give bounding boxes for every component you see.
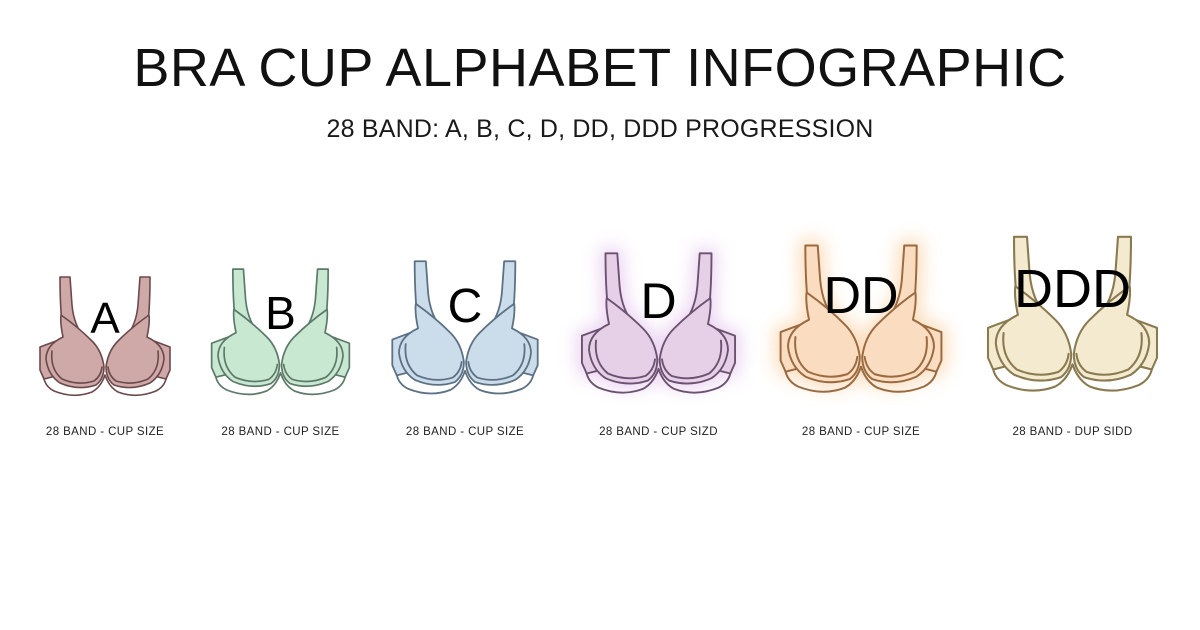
bra-size-item-c: C28 BAND - CUP SIZE bbox=[381, 259, 549, 438]
page-title: BRA CUP ALPHABET INFOGRAPHIC bbox=[0, 40, 1200, 97]
bra-illustration bbox=[30, 275, 180, 410]
bra-caption: 28 BAND - CUP SIZE bbox=[46, 426, 164, 438]
bra-size-row: A28 BAND - CUP SIZEB28 BAND - CUP SIZEC2… bbox=[0, 238, 1200, 438]
bra-caption: 28 BAND - DUP SIDD bbox=[1012, 426, 1132, 438]
bra-cup-right bbox=[106, 315, 164, 388]
bra-illustration bbox=[768, 243, 954, 410]
page-subtitle: 28 BAND: A, B, C, D, DD, DDD PROGRESSION bbox=[0, 97, 1200, 144]
bra-caption: 28 BAND - CUP SIZE bbox=[406, 426, 524, 438]
bra-size-item-a: A28 BAND - CUP SIZE bbox=[30, 275, 180, 438]
bra-illustration bbox=[201, 267, 360, 410]
bra-illustration bbox=[381, 259, 549, 410]
infographic-canvas: BRA CUP ALPHABET INFOGRAPHIC 28 BAND: A,… bbox=[0, 0, 1200, 630]
bra-figure: A bbox=[30, 275, 180, 410]
bra-figure: D bbox=[570, 251, 747, 410]
bra-size-item-d: D28 BAND - CUP SIZD bbox=[570, 251, 747, 438]
bra-size-item-ddd: DDD28 BAND - DUP SIDD bbox=[975, 234, 1170, 438]
bra-cup-left bbox=[589, 298, 657, 383]
bra-size-item-dd: DD28 BAND - CUP SIZE bbox=[768, 243, 954, 438]
bra-figure: B bbox=[201, 267, 360, 410]
bra-cup-right bbox=[1074, 286, 1149, 380]
bra-cup-left bbox=[46, 315, 104, 388]
bra-cup-right bbox=[862, 292, 934, 382]
bra-caption: 28 BAND - CUP SIZE bbox=[802, 426, 920, 438]
bra-figure: DDD bbox=[975, 234, 1170, 410]
bra-size-item-b: B28 BAND - CUP SIZE bbox=[201, 267, 360, 438]
bra-illustration bbox=[975, 234, 1170, 410]
bra-caption: 28 BAND - CUP SIZD bbox=[599, 426, 718, 438]
bra-cup-left bbox=[218, 309, 279, 386]
bra-cup-right bbox=[466, 304, 531, 385]
bra-cup-left bbox=[996, 286, 1071, 380]
header: BRA CUP ALPHABET INFOGRAPHIC 28 BAND: A,… bbox=[0, 0, 1200, 144]
bra-caption: 28 BAND - CUP SIZE bbox=[221, 426, 339, 438]
bra-cup-right bbox=[282, 309, 343, 386]
bra-cup-right bbox=[660, 298, 728, 383]
bra-figure: C bbox=[381, 259, 549, 410]
bra-cup-left bbox=[788, 292, 860, 382]
bra-illustration bbox=[570, 251, 747, 410]
bra-cup-left bbox=[399, 304, 464, 385]
bra-figure: DD bbox=[768, 243, 954, 410]
